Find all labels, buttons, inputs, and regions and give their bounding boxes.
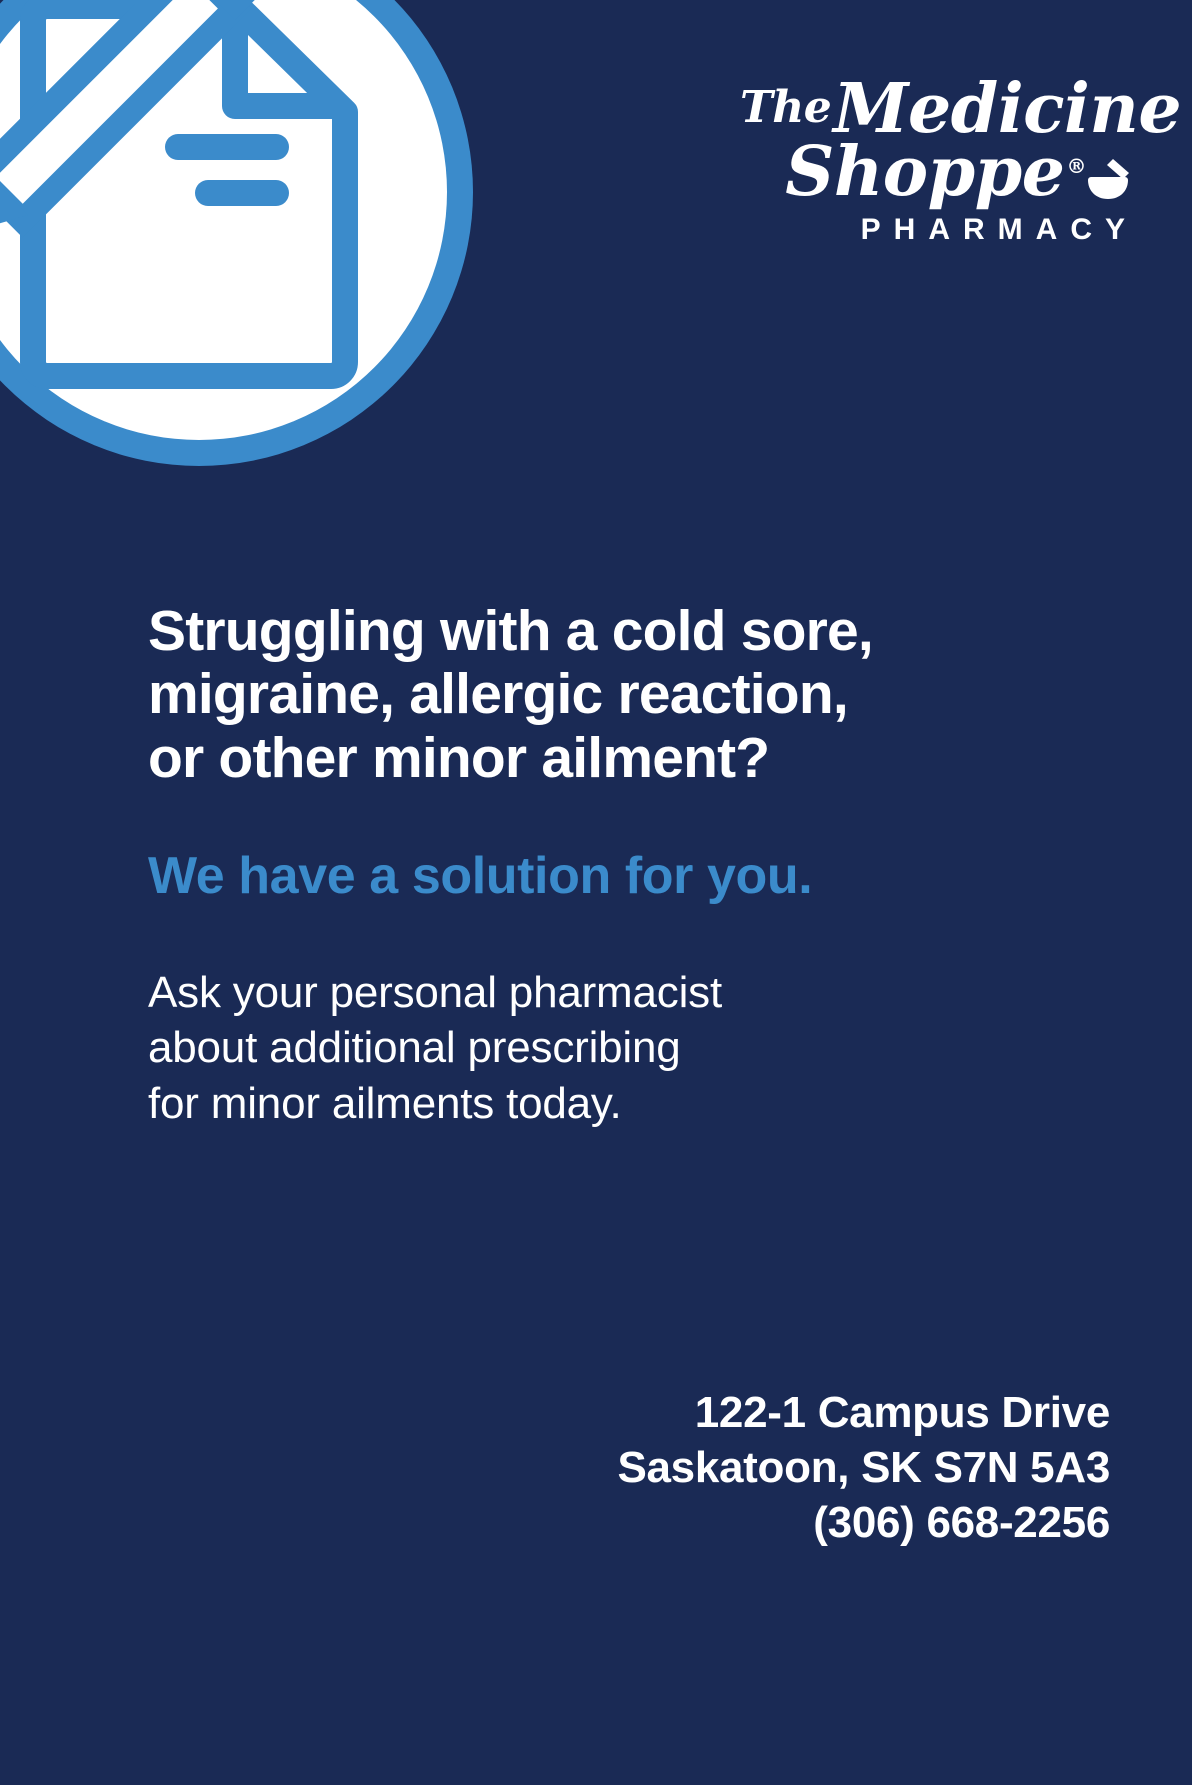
headline: Struggling with a cold sore, migraine, a…: [148, 600, 1112, 790]
address-street: 122-1 Campus Drive: [617, 1385, 1110, 1440]
logo-wordmark: TheMedicine Shoppe®: [740, 78, 1140, 203]
copy-block: Struggling with a cold sore, migraine, a…: [148, 600, 1112, 1131]
medicine-shoppe-logo: TheMedicine Shoppe® PHARMACY: [740, 78, 1140, 247]
registered-mark: ®: [1067, 154, 1087, 178]
body-line-2: about additional prescribing: [148, 1020, 1112, 1075]
address-block: 122-1 Campus Drive Saskatoon, SK S7N 5A3…: [617, 1385, 1110, 1550]
badge-graphic: [0, 0, 473, 466]
logo-shoppe: Shoppe: [785, 132, 1064, 212]
mortar-pestle-icon: [1088, 147, 1134, 191]
address-phone[interactable]: (306) 668-2256: [617, 1495, 1110, 1550]
logo-line-shoppe: Shoppe®: [740, 141, 1140, 204]
tagline: We have a solution for you.: [148, 848, 1112, 905]
address-city: Saskatoon, SK S7N 5A3: [617, 1440, 1110, 1495]
document-pencil-icon: [0, 0, 409, 394]
logo-the: The: [740, 82, 831, 133]
headline-line-1: Struggling with a cold sore,: [148, 600, 1112, 663]
logo-pharmacy-text: PHARMACY: [740, 213, 1140, 247]
body-copy: Ask your personal pharmacist about addit…: [148, 965, 1112, 1131]
headline-line-2: migraine, allergic reaction,: [148, 663, 1112, 726]
headline-line-3: or other minor ailment?: [148, 727, 1112, 790]
body-line-3: for minor ailments today.: [148, 1076, 1112, 1131]
body-line-1: Ask your personal pharmacist: [148, 965, 1112, 1020]
poster: TheMedicine Shoppe® PHARMACY Struggling …: [0, 0, 1192, 1785]
